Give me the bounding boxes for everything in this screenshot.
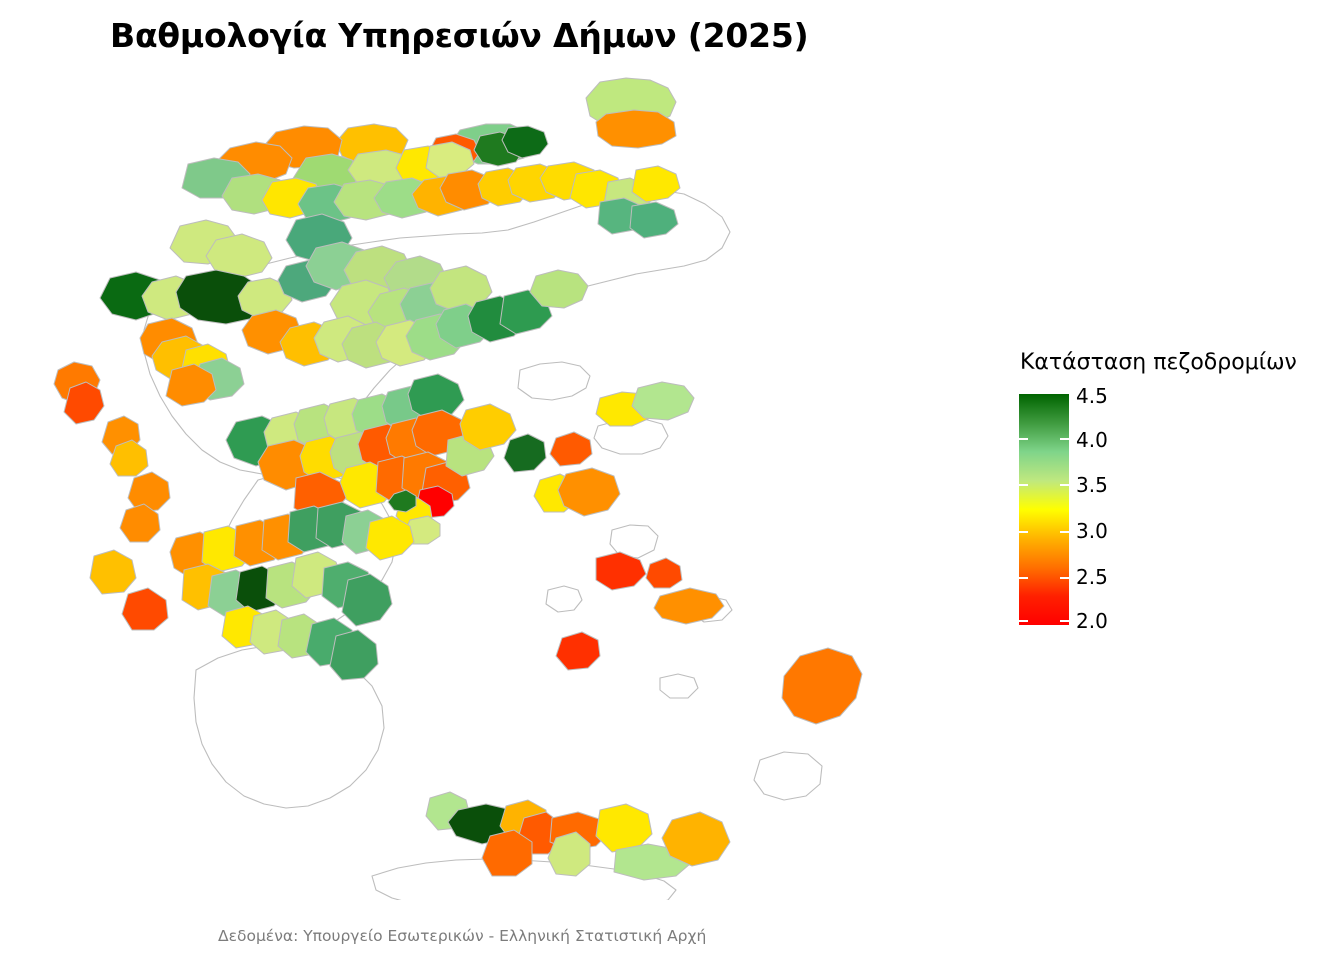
legend-tick-right-2-5	[1060, 577, 1069, 579]
legend-tick-left-3-5	[1019, 484, 1028, 486]
legend-label-4-5: 4.5	[1076, 384, 1108, 408]
legend-tick-right-3-0	[1060, 531, 1069, 533]
legend-title: Κατάσταση πεζοδρομίων	[1020, 350, 1297, 375]
greece-choropleth-map	[0, 70, 1000, 900]
legend-tick-left-2-5	[1019, 577, 1028, 579]
legend-label-2-5: 2.5	[1076, 565, 1108, 589]
choropleth-map-figure: Βαθμολογία Υπηρεσιών Δήμων (2025)	[0, 0, 1344, 960]
legend-tick-left-4-0	[1019, 438, 1028, 440]
legend-tick-left-2-0	[1019, 620, 1028, 622]
legend-gradient	[1019, 394, 1069, 625]
map-data-layer-aegean	[504, 270, 862, 724]
legend-label-2-0: 2.0	[1076, 609, 1108, 633]
legend-label-4-0: 4.0	[1076, 428, 1108, 452]
legend: Κατάσταση πεζοδρομίων 4.5 4.0 3.5 3.0 2.…	[1018, 350, 1344, 640]
page-title: Βαθμολογία Υπηρεσιών Δήμων (2025)	[110, 16, 809, 55]
legend-colorbar[interactable]	[1019, 394, 1069, 625]
legend-tick-right-4-0	[1060, 438, 1069, 440]
map-data-layer-ionian	[54, 362, 170, 630]
legend-tick-right-2-0	[1060, 620, 1069, 622]
legend-tick-left-3-0	[1019, 531, 1028, 533]
map-panel	[0, 70, 1000, 900]
map-data-layer-north	[182, 78, 680, 238]
legend-label-3-5: 3.5	[1076, 473, 1108, 497]
legend-label-3-0: 3.0	[1076, 519, 1108, 543]
map-data-layer-peloponnese	[170, 502, 414, 680]
figure-caption: Δεδομένα: Υπουργείο Εσωτερικών - Ελληνικ…	[218, 927, 706, 945]
legend-tick-right-3-5	[1060, 484, 1069, 486]
